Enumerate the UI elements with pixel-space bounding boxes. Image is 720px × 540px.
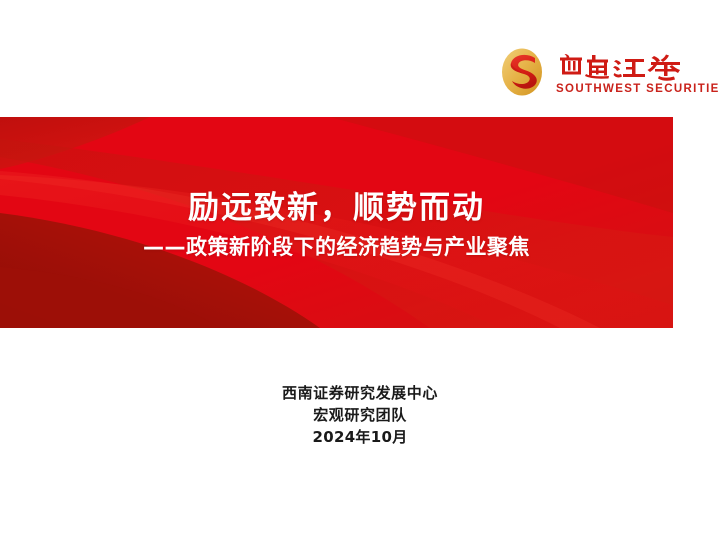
banner-text-group: 励远致新，顺势而动 ——政策新阶段下的经济趋势与产业聚焦 xyxy=(0,117,673,328)
footer-organization: 西南证券研究发展中心 xyxy=(0,382,720,404)
footer-team: 宏观研究团队 xyxy=(0,404,720,426)
title-banner: 励远致新，顺势而动 ——政策新阶段下的经济趋势与产业聚焦 xyxy=(0,117,673,328)
footer-date: 2024年10月 xyxy=(0,426,720,448)
brand-name-en: SOUTHWEST SECURITIES xyxy=(556,83,720,96)
brand-wordmark: SOUTHWEST SECURITIES xyxy=(556,49,720,96)
southwest-securities-globe-icon xyxy=(496,45,548,99)
slide-subtitle: ——政策新阶段下的经济趋势与产业聚焦 xyxy=(143,234,530,260)
brand-name-cn-icon xyxy=(556,51,688,81)
presentation-title-slide: SOUTHWEST SECURITIES xyxy=(0,0,720,540)
brand-logo: SOUTHWEST SECURITIES xyxy=(496,44,720,100)
footer-block: 西南证券研究发展中心 宏观研究团队 2024年10月 xyxy=(0,382,720,448)
slide-title: 励远致新，顺势而动 xyxy=(188,189,485,228)
